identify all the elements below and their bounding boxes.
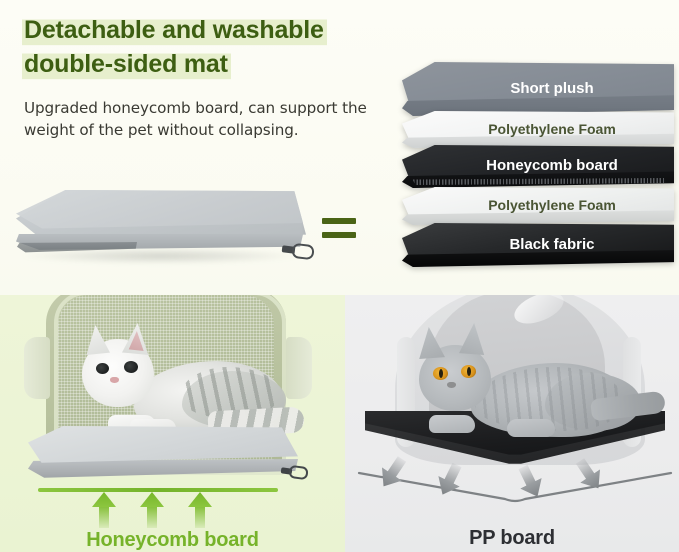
layer-label: Short plush	[510, 80, 593, 97]
layer-stack-diagram: Short plush Polyethylene Foam Honeycomb …	[402, 62, 674, 272]
cat-paw-front-right	[507, 419, 555, 437]
layer-black-fabric: Black fabric	[402, 223, 674, 267]
zipper-icon	[282, 244, 312, 257]
subtitle-text: Upgraded honeycomb board, can support th…	[24, 97, 384, 142]
arrow-shaft	[147, 504, 157, 528]
caption-honeycomb-board: Honeycomb board	[0, 529, 345, 552]
grey-cat-illustration	[395, 323, 645, 453]
cat-nose	[110, 377, 119, 383]
layer-label: Honeycomb board	[486, 157, 618, 174]
cat-nose	[447, 382, 456, 388]
top-section: Detachable and washable double-sided mat…	[0, 0, 679, 295]
up-arrow-icon	[140, 492, 164, 526]
carrier-handle-left	[24, 337, 50, 399]
layer-label: Polyethylene Foam	[488, 121, 616, 137]
plush-mat-illustration	[10, 186, 310, 281]
up-arrow-icon	[92, 492, 116, 526]
zipper-ring	[288, 465, 309, 481]
arrow-shaft	[195, 504, 205, 528]
layer-label: Polyethylene Foam	[488, 197, 616, 213]
title-line-2: double-sided mat	[22, 48, 231, 81]
equals-icon	[322, 218, 356, 244]
infographic-root: Detachable and washable double-sided mat…	[0, 0, 679, 552]
cat-eye-left	[96, 363, 109, 374]
cat-pupil-right	[467, 367, 471, 376]
zipper-icon	[281, 466, 305, 477]
arrow-head	[140, 492, 164, 507]
equals-bar-top	[322, 218, 356, 224]
layer-polyethylene-foam-bottom: Polyethylene Foam	[402, 187, 674, 225]
comparison-panel-right: PP board	[345, 295, 679, 552]
layer-polyethylene-foam-top: Polyethylene Foam	[402, 111, 674, 148]
cat-eye-right	[124, 361, 138, 373]
up-arrow-icon	[188, 492, 212, 526]
comparison-panel-left: Honeycomb board	[0, 295, 345, 552]
layer-honeycomb-board: Honeycomb board	[402, 145, 674, 188]
cat-pupil-left	[439, 369, 443, 378]
arrow-shaft	[99, 504, 109, 528]
title-block: Detachable and washable double-sided mat	[22, 14, 402, 81]
equals-bar-bottom	[322, 232, 356, 238]
white-cat-illustration	[62, 323, 292, 443]
flat-mat-edge	[28, 459, 298, 483]
cat-ear-right	[459, 323, 487, 355]
layer-label: Black fabric	[509, 236, 594, 253]
arrow-head	[188, 492, 212, 507]
cat-ear-left	[415, 327, 445, 359]
flat-mat-illustration	[28, 426, 298, 488]
cat-paw-front-left	[429, 415, 475, 433]
caption-pp-board: PP board	[345, 527, 679, 550]
layer-short-plush: Short plush	[402, 62, 674, 116]
comparison-section: Honeycomb board	[0, 295, 679, 552]
title-line-1: Detachable and washable	[22, 14, 327, 47]
arrow-head	[92, 492, 116, 507]
zipper-ring	[291, 243, 315, 261]
